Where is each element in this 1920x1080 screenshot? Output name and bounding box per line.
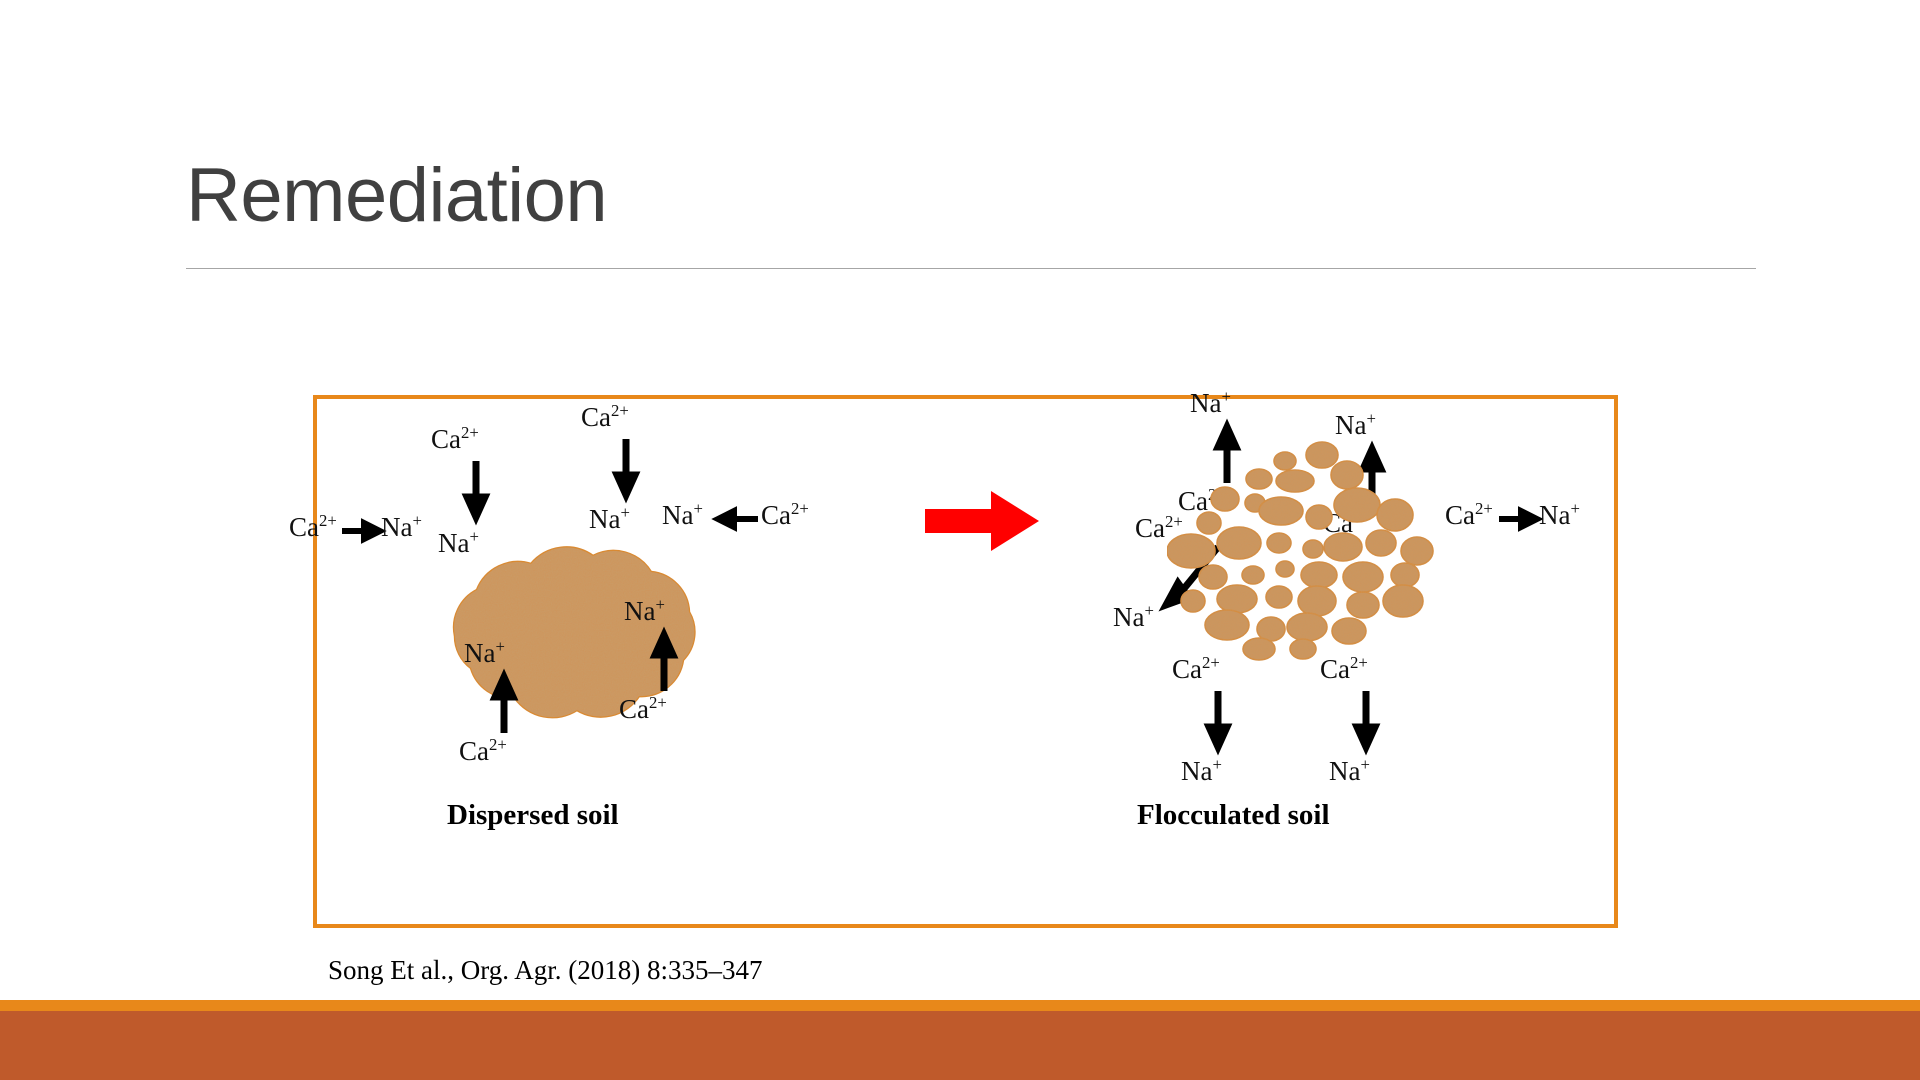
flocculated-soil-caption: Flocculated soil — [1137, 799, 1330, 832]
arrow-down-floc-2 — [1355, 691, 1377, 749]
label-na-bottom-1: Na+ — [464, 639, 505, 667]
flocculated-soil-aggregate — [1167, 439, 1497, 669]
arrow-down-floc-1 — [1207, 691, 1229, 749]
label-ca-bottom-1: Ca2+ — [459, 737, 507, 765]
dispersed-soil-caption: Dispersed soil — [447, 799, 619, 832]
label-ca-top-2: Ca2+ — [581, 403, 629, 431]
arrow-up-1 — [493, 675, 515, 733]
label-na-floc-bottom-1: Na+ — [1181, 757, 1222, 785]
arrow-right-left-side — [342, 521, 382, 541]
page-title: Remediation — [186, 158, 607, 234]
label-ca-floc-bottom-2: Ca2+ — [1320, 655, 1368, 683]
figure-inner: Ca2+ Ca2+ Na+ Na+ — [317, 399, 1614, 924]
dispersed-soil-aggregate — [395, 541, 735, 741]
label-ca-right: Ca2+ — [761, 501, 809, 529]
label-na-floc-top-2: Na+ — [1335, 411, 1376, 439]
arrow-down-2 — [615, 439, 637, 497]
arrow-down-1 — [465, 461, 487, 519]
label-ca-floc-bottom-1: Ca2+ — [1172, 655, 1220, 683]
figure-citation: Song Et al., Org. Agr. (2018) 8:335–347 — [328, 955, 763, 986]
label-na-bottom-2: Na+ — [624, 597, 665, 625]
label-na-left: Na+ — [381, 513, 422, 541]
label-ca-top-1: Ca2+ — [431, 425, 479, 453]
footer-bar — [0, 1011, 1920, 1080]
label-na-floc-right: Na+ — [1539, 501, 1580, 529]
arrow-up-2 — [653, 633, 675, 691]
label-na-floc-top-1: Na+ — [1190, 389, 1231, 417]
transition-arrow-red — [925, 491, 1039, 556]
label-na-top-2: Na+ — [589, 505, 630, 533]
figure-container: Ca2+ Ca2+ Na+ Na+ — [313, 395, 1618, 928]
label-na-floc-bottom-2: Na+ — [1329, 757, 1370, 785]
title-divider — [186, 268, 1756, 269]
footer-accent-bar — [0, 1000, 1920, 1011]
label-na-floc-release: Na+ — [1113, 603, 1154, 631]
label-na-right: Na+ — [662, 501, 703, 529]
arrow-right-floc — [1499, 509, 1539, 529]
label-ca-left: Ca2+ — [289, 513, 337, 541]
label-ca-bottom-2: Ca2+ — [619, 695, 667, 723]
label-ca-floc-right: Ca2+ — [1445, 501, 1493, 529]
arrow-left-mid — [716, 509, 758, 529]
